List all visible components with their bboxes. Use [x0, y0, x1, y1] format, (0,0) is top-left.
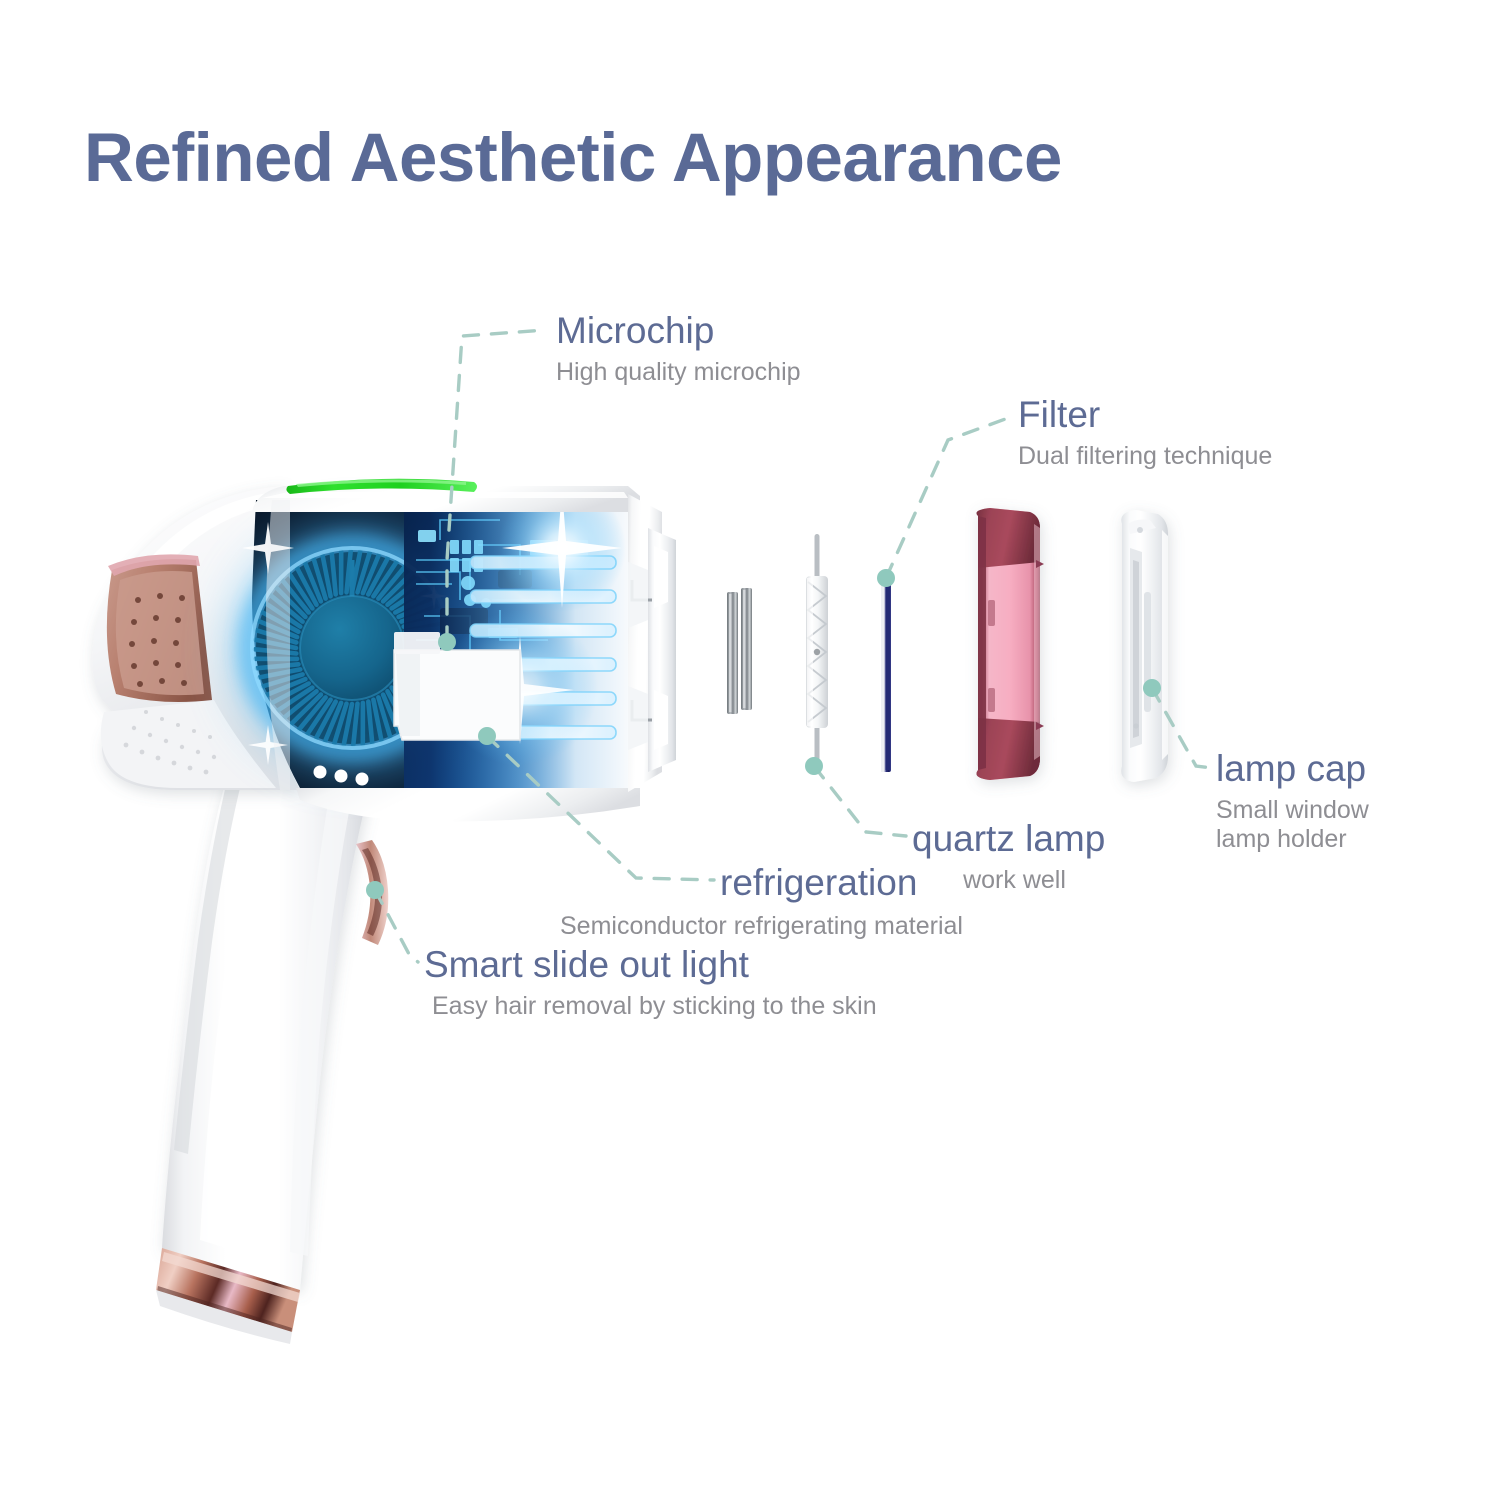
device-handle — [162, 760, 374, 1290]
callout-microchip-subtitle: High quality microchip — [556, 358, 801, 387]
metal-clip — [727, 588, 752, 714]
callout-slide-light-title: Smart slide out light — [424, 946, 877, 983]
callout-slide-light-subtitle: Easy hair removal by sticking to the ski… — [432, 992, 877, 1021]
callout-lamp-cap-title: lamp cap — [1216, 750, 1369, 787]
callout-refrigeration-subtitle: Semiconductor refrigerating material — [560, 912, 963, 941]
vent-grille — [107, 554, 212, 702]
callout-microchip-title: Microchip — [556, 312, 801, 349]
callout-lamp-cap-subtitle-line2: lamp holder — [1216, 825, 1369, 854]
callout-filter-title: Filter — [1018, 396, 1272, 433]
quartz-lamp-part — [806, 534, 828, 774]
callout-filter: Filter Dual filtering technique — [1018, 396, 1272, 471]
callout-filter-subtitle: Dual filtering technique — [1018, 442, 1272, 471]
callout-quartz-lamp-title: quartz lamp — [912, 820, 1117, 857]
refrigeration-block — [394, 650, 520, 740]
callout-refrigeration: refrigeration Semiconductor refrigeratin… — [720, 864, 963, 941]
callout-refrigeration-title: refrigeration — [720, 864, 963, 901]
infographic-canvas: Refined Aesthetic Appearance — [0, 0, 1500, 1500]
filter-strip — [881, 574, 891, 772]
callout-microchip: Microchip High quality microchip — [556, 312, 801, 387]
callout-lamp-cap: lamp cap Small window lamp holder — [1216, 750, 1369, 854]
lamp-cap-part — [1121, 510, 1168, 782]
slide-switch[interactable] — [356, 840, 388, 945]
device-head — [220, 484, 662, 821]
pink-filter — [977, 508, 1045, 780]
callout-lamp-cap-subtitle-line1: Small window — [1216, 796, 1369, 825]
sensor-block — [394, 632, 440, 654]
callout-slide-light: Smart slide out light Easy hair removal … — [424, 946, 877, 1021]
